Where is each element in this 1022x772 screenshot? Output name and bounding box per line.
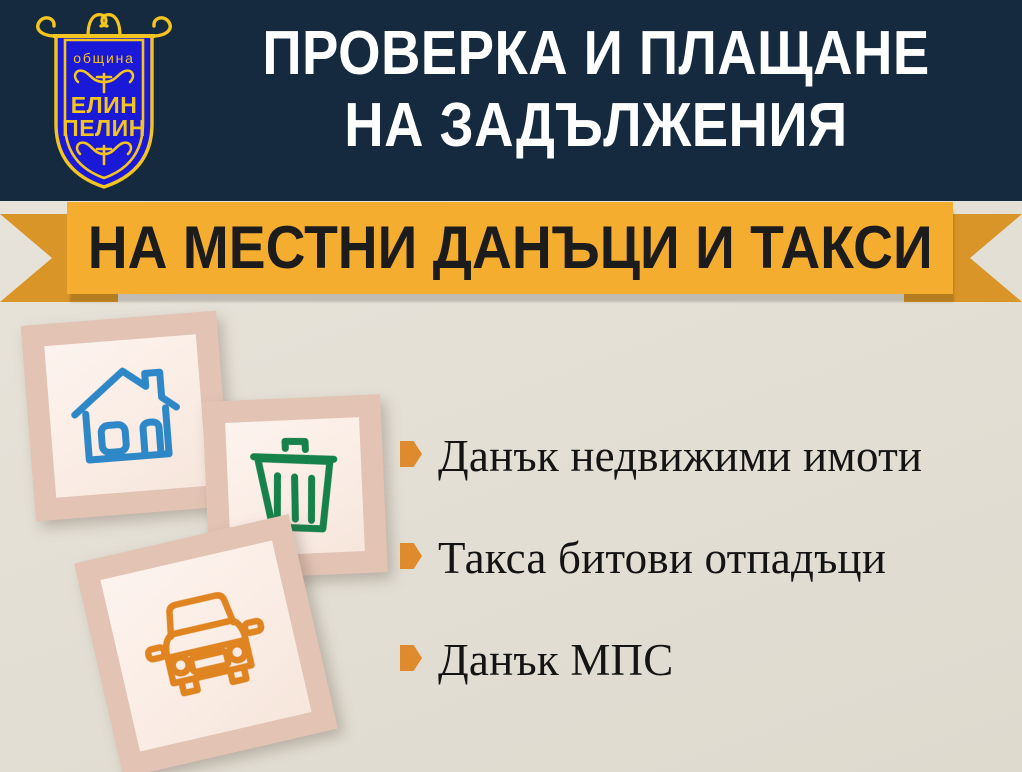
subtitle-ribbon: НА МЕСТНИ ДАНЪЦИ И ТАКСИ — [0, 196, 1022, 311]
crest-small-text: община — [73, 50, 134, 66]
list-item-label: Данък недвижими имоти — [438, 430, 922, 482]
stamp-inner-face — [44, 334, 207, 497]
page-title-line-2: НА ЗАДЪЛЖЕНИЯ — [237, 90, 955, 162]
car-front-icon — [134, 580, 279, 711]
page-title-line-1: ПРОВЕРКА И ПЛАЩАНЕ — [262, 19, 929, 88]
bullet-arrow-icon — [400, 645, 422, 671]
list-item: Такса битови отпадъци — [400, 532, 1010, 584]
list-item: Данък МПС — [400, 634, 1010, 686]
bullet-arrow-icon — [400, 441, 422, 467]
stamp-card-property-tax — [21, 311, 232, 522]
page-title: ПРОВЕРКА И ПЛАЩАНЕ НА ЗАДЪЛЖЕНИЯ — [237, 18, 955, 162]
list-item-label: Данък МПС — [438, 634, 673, 686]
crest-name-line2: ПЕЛИН — [62, 115, 146, 141]
municipality-crest-icon: община ЕЛИН ПЕЛИН — [30, 6, 178, 192]
tax-type-list: Данък недвижими имоти Такса битови отпад… — [400, 430, 1010, 686]
ribbon-label: НА МЕСТНИ ДАНЪЦИ И ТАКСИ — [88, 217, 933, 279]
list-item: Данък недвижими имоти — [400, 430, 1010, 482]
poster-canvas: община ЕЛИН ПЕЛИН ПРОВЕРКА И ПЛАЩАНЕ НА … — [0, 0, 1022, 772]
ribbon-banner: НА МЕСТНИ ДАНЪЦИ И ТАКСИ — [67, 202, 953, 294]
list-item-label: Такса битови отпадъци — [438, 532, 886, 584]
house-icon — [66, 360, 186, 472]
bullet-arrow-icon — [400, 543, 422, 569]
